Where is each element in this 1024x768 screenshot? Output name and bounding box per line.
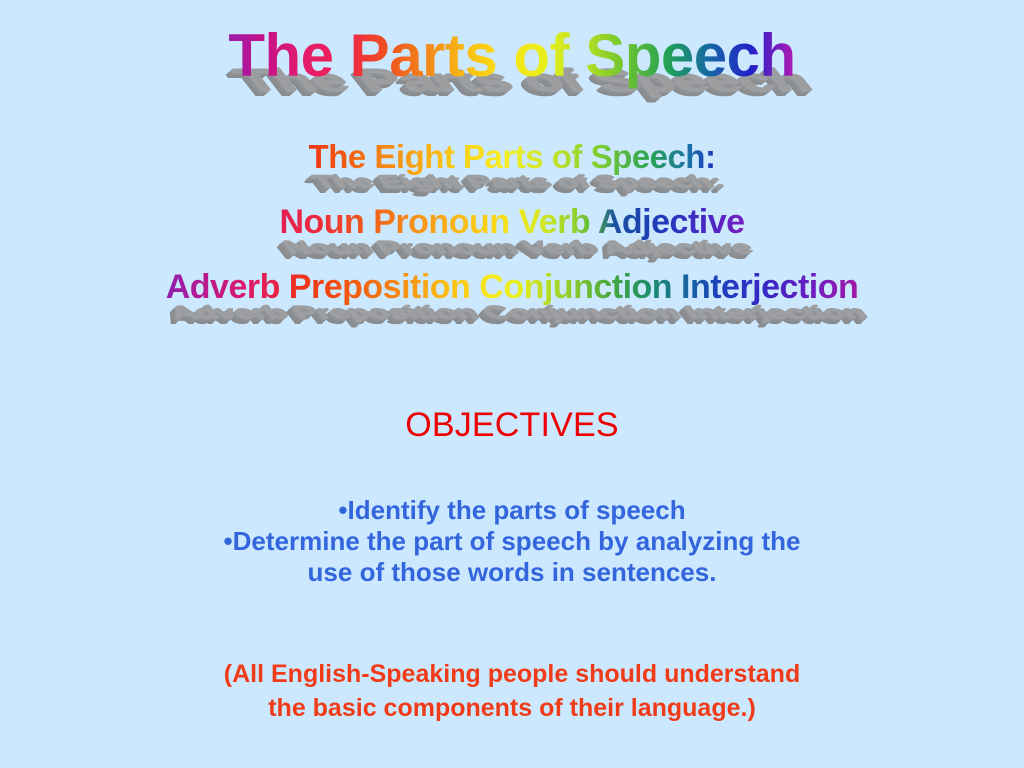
list-item-label: use of those words in sentences. (308, 557, 717, 587)
objectives-heading: OBJECTIVES (0, 406, 1024, 445)
note-block: (All English-Speaking people should unde… (0, 657, 1024, 725)
bullet-icon: • (338, 495, 347, 525)
list-item-label: Determine the part of speech by analyzin… (233, 526, 801, 556)
parts-of-speech-row-2-text: Adverb Preposition Conjunction Interject… (0, 270, 1024, 304)
slide-canvas: The Parts of Speech The Parts of Speech … (0, 0, 1024, 768)
parts-of-speech-row-2-label: Adverb Preposition Conjunction Interject… (166, 268, 859, 306)
list-item: •Identify the parts of speech (0, 495, 1024, 526)
note-line: (All English-Speaking people should unde… (0, 657, 1024, 691)
parts-of-speech-row-1-label: Noun Pronoun Verb Adjective (279, 203, 744, 241)
title-wordart: The Parts of Speech The Parts of Speech (0, 0, 1024, 76)
subtitle-text: The Eight Parts of Speech: (309, 138, 716, 175)
list-item: use of those words in sentences. (0, 557, 1024, 588)
list-item: •Determine the part of speech by analyzi… (0, 526, 1024, 557)
parts-of-speech-row-1-text: Noun Pronoun Verb Adjective (0, 205, 1024, 239)
subtitle-wordart-text: The Eight Parts of Speech: (0, 140, 1024, 173)
note-line: the basic components of their language.) (0, 691, 1024, 725)
bullet-icon: • (224, 526, 233, 556)
list-item-label: Identify the parts of speech (348, 495, 686, 525)
objectives-list: •Identify the parts of speech •Determine… (0, 495, 1024, 588)
title-text: The Parts of Speech (228, 22, 795, 89)
title-wordart-text: The Parts of Speech (0, 26, 1024, 86)
